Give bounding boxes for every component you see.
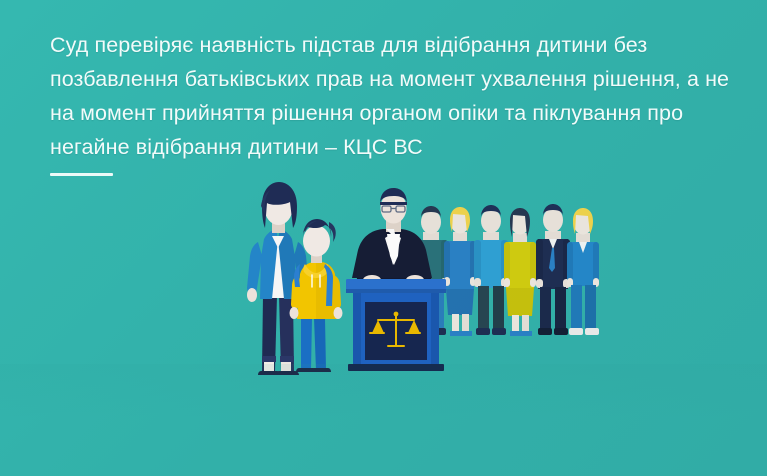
- observer-5: [536, 204, 570, 335]
- observer-3: [474, 205, 508, 335]
- observer-group: [414, 204, 599, 336]
- judge-bench: [346, 279, 446, 371]
- observer-6: [567, 208, 599, 335]
- observer-4: [504, 208, 536, 336]
- observer-2: [444, 207, 476, 336]
- banner-image: Суд перевіряє наявність підстав для віді…: [0, 0, 767, 476]
- title-divider: [50, 173, 113, 176]
- son-figure: [290, 219, 343, 372]
- courtroom-illustration: [0, 178, 767, 418]
- judge-figure: [352, 188, 433, 288]
- page-title: Суд перевіряє наявність підстав для віді…: [50, 28, 730, 164]
